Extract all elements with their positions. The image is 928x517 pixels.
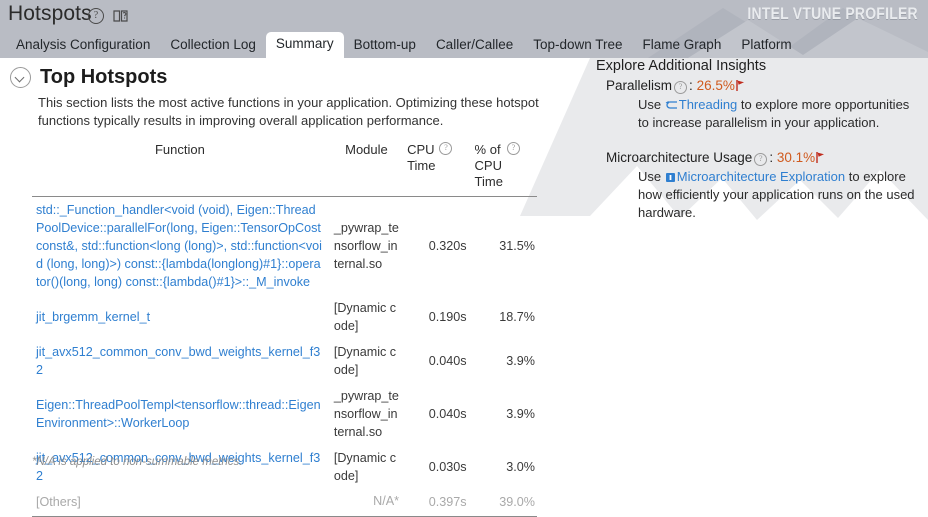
module-name: [Dynamic code] — [334, 301, 396, 333]
module-name: N/A* — [334, 494, 399, 510]
tab-top-down-tree[interactable]: Top-down Tree — [523, 33, 632, 58]
microarchitecture-help-icon[interactable]: ? — [754, 153, 767, 166]
threading-link[interactable]: Threading — [679, 97, 738, 112]
cpu-time-help-icon[interactable]: ? — [439, 142, 452, 155]
pct-cpu-time-value: 39.0% — [499, 495, 535, 509]
table-row[interactable]: jit_avx512_common_conv_bwd_weights_kerne… — [32, 339, 537, 383]
red-flag-icon — [816, 152, 825, 163]
parallelism-separator: : — [689, 78, 693, 93]
microarchitecture-separator: : — [769, 150, 773, 165]
module-name: _pywrap_tensorflow_internal.so — [334, 221, 399, 271]
table-header-row: Function Module CPU Time ? % of CPU Time… — [32, 138, 537, 197]
threading-icon — [665, 100, 678, 111]
cpu-time-value: 0.040s — [429, 354, 467, 368]
tab-analysis-configuration[interactable]: Analysis Configuration — [6, 33, 160, 58]
parallelism-description: Use Threading to explore more opportunit… — [638, 96, 918, 132]
help-circle-icon[interactable]: ? — [88, 8, 104, 24]
book-guide-icon[interactable] — [113, 9, 128, 23]
table-footnote: *N/A is applied to non-summable metrics. — [32, 456, 243, 468]
section-description: This section lists the most active funct… — [38, 94, 548, 130]
cpu-time-label-line1: CPU — [407, 142, 434, 157]
module-name: [Dynamic code] — [334, 451, 396, 483]
parallelism-metric-line: Parallelism?: 26.5% — [606, 76, 926, 96]
page-title: Hotspots — [8, 2, 92, 26]
tab-summary[interactable]: Summary — [266, 32, 344, 58]
tab-bottom-up[interactable]: Bottom-up — [344, 33, 426, 58]
pct-cpu-time-help-icon[interactable]: ? — [507, 142, 520, 155]
tab-bar: Analysis Configuration Collection Log Su… — [0, 33, 802, 58]
cpu-time-value: 0.030s — [429, 460, 467, 474]
pct-cpu-time-value: 3.9% — [506, 354, 535, 368]
cpu-time-value: 0.190s — [429, 310, 467, 324]
microarchitecture-icon — [665, 172, 676, 183]
pct-label-line1: % of — [475, 142, 501, 157]
microarchitecture-desc-pre: Use — [638, 169, 661, 184]
microarchitecture-description: Use Microarchitecture Exploration to exp… — [638, 168, 918, 222]
table-row[interactable]: std::_Function_handler<void (void), Eige… — [32, 197, 537, 295]
insight-parallelism: Parallelism?: 26.5% Use Threading to exp… — [596, 76, 926, 132]
insights-panel: Explore Additional Insights Parallelism?… — [596, 58, 926, 222]
table-row[interactable]: jit_brgemm_kernel_t [Dynamic code] 0.190… — [32, 295, 537, 339]
microarchitecture-label: Microarchitecture Usage — [606, 150, 752, 165]
pct-cpu-time-value: 3.0% — [506, 460, 535, 474]
microarchitecture-metric-line: Microarchitecture Usage?: 30.1% — [606, 148, 926, 168]
pct-cpu-time-value: 3.9% — [506, 407, 535, 421]
pct-label-line2: CPU — [475, 158, 502, 173]
column-header-module: Module — [330, 138, 403, 194]
function-link[interactable]: jit_avx512_common_conv_bwd_weights_kerne… — [36, 345, 320, 377]
insight-microarchitecture: Microarchitecture Usage?: 30.1% Use Micr… — [596, 148, 926, 222]
parallelism-value: 26.5% — [697, 78, 735, 93]
cpu-time-label-line2: Time — [407, 158, 435, 173]
module-name: [Dynamic code] — [334, 345, 396, 377]
section-header: Top Hotspots — [10, 66, 167, 89]
red-flag-icon — [736, 80, 745, 91]
module-name: _pywrap_tensorflow_internal.so — [334, 389, 399, 439]
vtune-brand-logo: INTEL VTUNE PROFILER — [748, 4, 918, 24]
section-title: Top Hotspots — [40, 66, 167, 89]
tab-flame-graph[interactable]: Flame Graph — [633, 33, 732, 58]
tab-caller-callee[interactable]: Caller/Callee — [426, 33, 523, 58]
column-header-cpu-time: CPU Time ? — [403, 138, 470, 194]
parallelism-help-icon[interactable]: ? — [674, 81, 687, 94]
title-icon-group: ? — [88, 8, 128, 24]
parallelism-desc-pre: Use — [638, 97, 661, 112]
insights-title: Explore Additional Insights — [596, 58, 926, 74]
column-header-pct-cpu-time: % of CPU Time ? — [471, 138, 537, 194]
parallelism-label: Parallelism — [606, 78, 672, 93]
function-link[interactable]: Eigen::ThreadPoolTempl<tensorflow::threa… — [36, 398, 321, 430]
pct-cpu-time-value: 31.5% — [499, 239, 535, 253]
tab-platform[interactable]: Platform — [731, 33, 801, 58]
chevron-down-circle-icon[interactable] — [10, 67, 31, 88]
column-header-function: Function — [32, 138, 330, 194]
summary-content: Top Hotspots This section lists the most… — [0, 58, 928, 480]
cpu-time-value: 0.040s — [429, 407, 467, 421]
microarchitecture-value: 30.1% — [777, 150, 815, 165]
cpu-time-value: 0.320s — [429, 239, 467, 253]
microarchitecture-exploration-link[interactable]: Microarchitecture Exploration — [677, 169, 845, 184]
function-link[interactable]: jit_brgemm_kernel_t — [36, 310, 150, 324]
pct-cpu-time-value: 18.7% — [499, 310, 535, 324]
table-row-others: [Others] N/A* 0.397s 39.0% — [32, 489, 537, 515]
app-header: Hotspots ? INTEL VTUNE PROFILER Analysis… — [0, 0, 928, 58]
function-label-others: [Others] — [36, 495, 81, 509]
pct-label-line3: Time — [475, 174, 503, 189]
table-row[interactable]: Eigen::ThreadPoolTempl<tensorflow::threa… — [32, 383, 537, 445]
cpu-time-value: 0.397s — [429, 495, 467, 509]
tab-collection-log[interactable]: Collection Log — [160, 33, 266, 58]
function-link[interactable]: std::_Function_handler<void (void), Eige… — [36, 203, 322, 289]
